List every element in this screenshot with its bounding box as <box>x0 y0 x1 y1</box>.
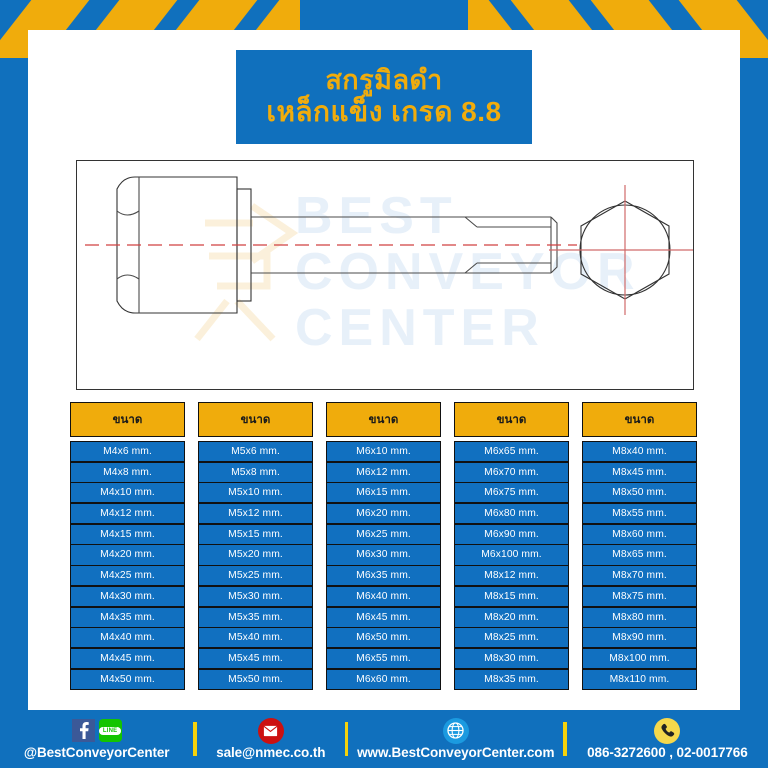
logo-watermark-text: BEST CONVEYOR CENTER <box>295 187 641 357</box>
size-cell[interactable]: M5x30 mm. <box>199 587 312 606</box>
phone-icon[interactable] <box>654 718 680 744</box>
size-cell[interactable]: M5x12 mm. <box>199 504 312 523</box>
size-cell[interactable]: M6x100 mm. <box>455 545 568 564</box>
size-cell[interactable]: M4x12 mm. <box>71 504 184 523</box>
size-cell[interactable]: M5x35 mm. <box>199 608 312 627</box>
size-cell[interactable]: M8x100 mm. <box>583 649 696 668</box>
size-cell[interactable]: M5x25 mm. <box>199 566 312 585</box>
line-icon[interactable]: LINE <box>99 719 122 742</box>
poster-page: สกรูมิลดำ เหล็กแข็ง เกรด 8.8 BEST CONVEY… <box>0 0 768 768</box>
size-cell[interactable]: M5x40 mm. <box>199 628 312 647</box>
size-tables: ขนาด M4x6 mm. M4x8 mm. M4x10 mm. M4x12 m… <box>70 402 710 690</box>
size-cell[interactable]: M4x35 mm. <box>71 608 184 627</box>
column-body: M5x6 mm. M5x8 mm. M5x10 mm. M5x12 mm. M5… <box>198 441 313 690</box>
size-cell[interactable]: M6x12 mm. <box>327 463 440 482</box>
email-label: sale@nmec.co.th <box>216 745 325 760</box>
size-cell[interactable]: M8x30 mm. <box>455 649 568 668</box>
size-cell[interactable]: M6x80 mm. <box>455 504 568 523</box>
size-cell[interactable]: M4x10 mm. <box>71 483 184 502</box>
footer-contact-bar: LINE @BestConveyorCenter sale@nmec.co.th <box>0 710 768 768</box>
facebook-icon[interactable] <box>72 719 95 742</box>
phone-icon-row <box>654 719 680 743</box>
size-cell[interactable]: M6x75 mm. <box>455 483 568 502</box>
column-header: ขนาด <box>70 402 185 437</box>
facebook-glyph <box>77 722 90 739</box>
size-cell[interactable]: M4x8 mm. <box>71 463 184 482</box>
size-cell[interactable]: M4x15 mm. <box>71 525 184 544</box>
email-icon-row <box>258 719 284 743</box>
column-body: M8x40 mm. M8x45 mm. M8x50 mm. M8x55 mm. … <box>582 441 697 690</box>
column-header: ขนาด <box>582 402 697 437</box>
size-cell[interactable]: M8x12 mm. <box>455 566 568 585</box>
size-cell[interactable]: M8x25 mm. <box>455 628 568 647</box>
globe-icon[interactable] <box>443 718 469 744</box>
size-cell[interactable]: M6x10 mm. <box>327 442 440 461</box>
column-body: M6x65 mm. M6x70 mm. M6x75 mm. M6x80 mm. … <box>454 441 569 690</box>
size-cell[interactable]: M6x90 mm. <box>455 525 568 544</box>
size-cell[interactable]: M6x40 mm. <box>327 587 440 606</box>
size-cell[interactable]: M5x20 mm. <box>199 545 312 564</box>
size-column-m6-long-m8-short: ขนาด M6x65 mm. M6x70 mm. M6x75 mm. M6x80… <box>454 402 569 690</box>
website-icon-row <box>443 719 469 743</box>
size-cell[interactable]: M6x55 mm. <box>327 649 440 668</box>
size-cell[interactable]: M8x70 mm. <box>583 566 696 585</box>
size-cell[interactable]: M8x110 mm. <box>583 670 696 689</box>
title-line-2: เหล็กแข็ง เกรด 8.8 <box>266 97 501 127</box>
size-cell[interactable]: M5x45 mm. <box>199 649 312 668</box>
column-header: ขนาด <box>326 402 441 437</box>
footer-email[interactable]: sale@nmec.co.th <box>197 710 345 768</box>
size-cell[interactable]: M8x90 mm. <box>583 628 696 647</box>
size-cell[interactable]: M5x10 mm. <box>199 483 312 502</box>
phone-handset-glyph <box>660 723 675 738</box>
size-cell[interactable]: M4x25 mm. <box>71 566 184 585</box>
size-cell[interactable]: M8x55 mm. <box>583 504 696 523</box>
size-cell[interactable]: M5x8 mm. <box>199 463 312 482</box>
svg-text:BEST: BEST <box>295 187 458 245</box>
footer-website[interactable]: www.BestConveyorCenter.com <box>348 710 563 768</box>
size-cell[interactable]: M8x15 mm. <box>455 587 568 606</box>
size-cell[interactable]: M8x60 mm. <box>583 525 696 544</box>
svg-text:CONVEYOR: CONVEYOR <box>295 243 641 301</box>
svg-text:CENTER: CENTER <box>295 299 545 357</box>
size-cell[interactable]: M8x75 mm. <box>583 587 696 606</box>
size-cell[interactable]: M8x20 mm. <box>455 608 568 627</box>
social-handle-label: @BestConveyorCenter <box>24 745 170 760</box>
email-icon[interactable] <box>258 718 284 744</box>
size-column-m5: ขนาด M5x6 mm. M5x8 mm. M5x10 mm. M5x12 m… <box>198 402 313 690</box>
size-cell[interactable]: M6x20 mm. <box>327 504 440 523</box>
social-icons-row: LINE <box>72 719 122 743</box>
size-cell[interactable]: M4x6 mm. <box>71 442 184 461</box>
line-badge-label: LINE <box>99 727 121 735</box>
size-cell[interactable]: M5x6 mm. <box>199 442 312 461</box>
size-cell[interactable]: M6x60 mm. <box>327 670 440 689</box>
size-cell[interactable]: M6x15 mm. <box>327 483 440 502</box>
size-cell[interactable]: M4x50 mm. <box>71 670 184 689</box>
phone-label: 086-3272600 , 02-0017766 <box>587 745 748 760</box>
size-cell[interactable]: M8x45 mm. <box>583 463 696 482</box>
website-label: www.BestConveyorCenter.com <box>357 745 554 760</box>
content-card: สกรูมิลดำ เหล็กแข็ง เกรด 8.8 BEST CONVEY… <box>28 30 740 710</box>
size-cell[interactable]: M6x50 mm. <box>327 628 440 647</box>
size-cell[interactable]: M8x50 mm. <box>583 483 696 502</box>
column-header: ขนาด <box>198 402 313 437</box>
column-header: ขนาด <box>454 402 569 437</box>
size-cell[interactable]: M8x65 mm. <box>583 545 696 564</box>
size-cell[interactable]: M6x30 mm. <box>327 545 440 564</box>
bolt-drawing-frame: BEST CONVEYOR CENTER <box>76 160 694 390</box>
size-cell[interactable]: M4x20 mm. <box>71 545 184 564</box>
column-body: M4x6 mm. M4x8 mm. M4x10 mm. M4x12 mm. M4… <box>70 441 185 690</box>
size-cell[interactable]: M8x40 mm. <box>583 442 696 461</box>
size-cell[interactable]: M6x45 mm. <box>327 608 440 627</box>
title-line-1: สกรูมิลดำ <box>325 66 442 95</box>
size-cell[interactable]: M4x40 mm. <box>71 628 184 647</box>
title-banner: สกรูมิลดำ เหล็กแข็ง เกรด 8.8 <box>236 50 532 144</box>
globe-glyph <box>447 722 464 739</box>
column-body: M6x10 mm. M6x12 mm. M6x15 mm. M6x20 mm. … <box>326 441 441 690</box>
size-cell[interactable]: M6x70 mm. <box>455 463 568 482</box>
size-column-m6-short: ขนาด M6x10 mm. M6x12 mm. M6x15 mm. M6x20… <box>326 402 441 690</box>
bolt-technical-drawing: BEST CONVEYOR CENTER <box>77 161 693 389</box>
size-cell[interactable]: M4x45 mm. <box>71 649 184 668</box>
footer-social[interactable]: LINE @BestConveyorCenter <box>0 710 193 768</box>
size-column-m8-long: ขนาด M8x40 mm. M8x45 mm. M8x50 mm. M8x55… <box>582 402 697 690</box>
size-cell[interactable]: M6x35 mm. <box>327 566 440 585</box>
footer-phone[interactable]: 086-3272600 , 02-0017766 <box>567 710 768 768</box>
size-cell[interactable]: M5x15 mm. <box>199 525 312 544</box>
envelope-glyph <box>263 725 278 737</box>
size-cell[interactable]: M6x65 mm. <box>455 442 568 461</box>
size-column-m4: ขนาด M4x6 mm. M4x8 mm. M4x10 mm. M4x12 m… <box>70 402 185 690</box>
size-cell[interactable]: M6x25 mm. <box>327 525 440 544</box>
size-cell[interactable]: M5x50 mm. <box>199 670 312 689</box>
size-cell[interactable]: M4x30 mm. <box>71 587 184 606</box>
size-cell[interactable]: M8x80 mm. <box>583 608 696 627</box>
size-cell[interactable]: M8x35 mm. <box>455 670 568 689</box>
